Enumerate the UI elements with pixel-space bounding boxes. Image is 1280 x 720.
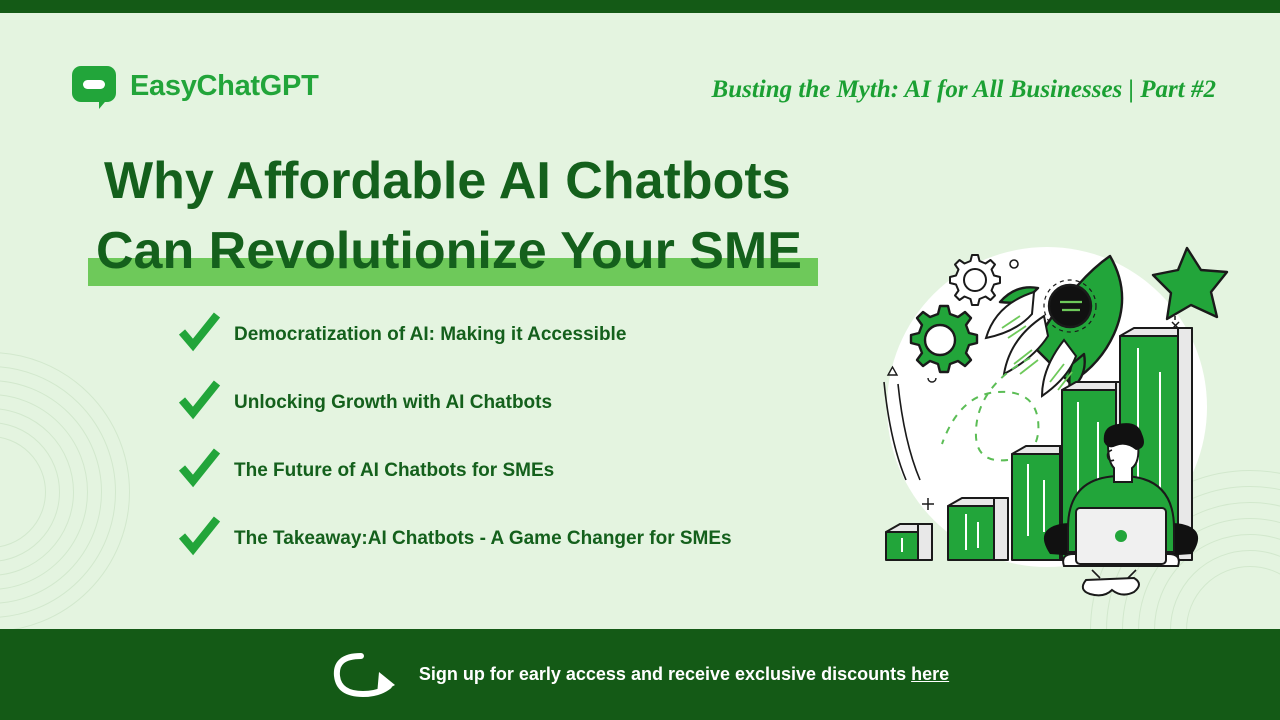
decorative-rings-left [0, 352, 130, 632]
list-item-label: The Takeaway:AI Chatbots - A Game Change… [234, 516, 732, 558]
check-icon [176, 376, 222, 422]
top-accent-bar [0, 0, 1280, 13]
list-item-label: Unlocking Growth with AI Chatbots [234, 380, 552, 422]
series-kicker: Busting the Myth: AI for All Businesses … [712, 76, 1216, 104]
curved-arrow-icon [331, 652, 401, 698]
list-item: The Takeaway:AI Chatbots - A Game Change… [176, 516, 856, 558]
growth-rocket-bar-chart-illustration [862, 232, 1242, 600]
brand-name: EasyChatGPT [130, 70, 319, 103]
check-icon [176, 308, 222, 354]
list-item: Unlocking Growth with AI Chatbots [176, 380, 856, 422]
footer-signup-link[interactable]: here [911, 664, 949, 684]
list-item: Democratization of AI: Making it Accessi… [176, 312, 856, 354]
bullet-list: Democratization of AI: Making it Accessi… [176, 312, 856, 584]
footer-message: Sign up for early access and receive exc… [419, 664, 906, 684]
list-item: The Future of AI Chatbots for SMEs [176, 448, 856, 490]
footer-text: Sign up for early access and receive exc… [419, 664, 949, 685]
title-line-1: Why Affordable AI Chatbots [96, 146, 836, 216]
slide-canvas: EasyChatGPT Busting the Myth: AI for All… [0, 0, 1280, 720]
check-icon [176, 512, 222, 558]
list-item-label: Democratization of AI: Making it Accessi… [234, 312, 626, 354]
footer-cta: Sign up for early access and receive exc… [0, 629, 1280, 720]
list-item-label: The Future of AI Chatbots for SMEs [234, 448, 554, 490]
brand-logo[interactable]: EasyChatGPT [72, 66, 319, 106]
title-line-2: Can Revolutionize Your SME [96, 216, 836, 286]
speech-bubble-icon [72, 66, 116, 106]
page-title: Why Affordable AI Chatbots Can Revolutio… [96, 146, 836, 286]
check-icon [176, 444, 222, 490]
